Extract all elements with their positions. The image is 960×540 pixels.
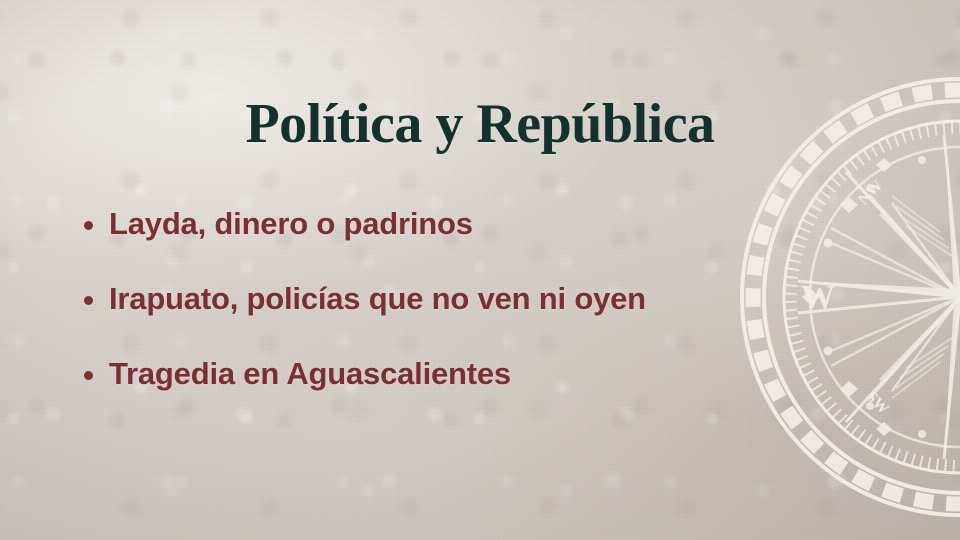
bullet-list: Layda, dinero o padrinos Irapuato, polic… <box>84 200 904 425</box>
list-item: Irapuato, policías que no ven ni oyen <box>84 275 904 324</box>
list-item-label: Layda, dinero o padrinos <box>109 207 473 241</box>
list-item: Layda, dinero o padrinos <box>84 200 904 249</box>
list-item-label: Irapuato, policías que no ven ni oyen <box>109 282 646 316</box>
bullet-dot-icon <box>84 296 93 305</box>
page-title: Política y República <box>0 95 960 154</box>
list-item: Tragedia en Aguascalientes <box>84 350 904 399</box>
slide-content: Política y República Layda, dinero o pad… <box>0 0 960 540</box>
bullet-dot-icon <box>84 221 93 230</box>
bullet-dot-icon <box>84 371 93 380</box>
list-item-label: Tragedia en Aguascalientes <box>109 357 511 391</box>
slide-canvas: W NW SW Política y República Layda, dine… <box>0 0 960 540</box>
